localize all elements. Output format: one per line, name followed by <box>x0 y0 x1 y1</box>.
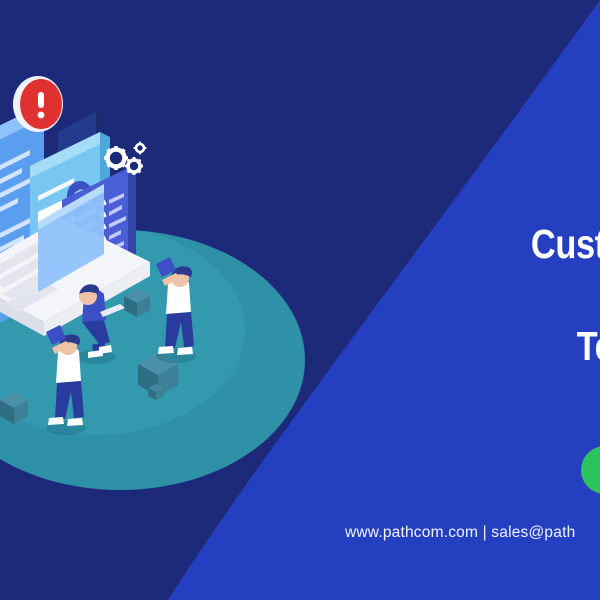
alert-badge <box>13 76 63 132</box>
exclamation-icon <box>38 92 44 108</box>
headline-line-2: Customer E <box>367 219 600 270</box>
footer-contact: www.pathcom.com | sales@path <box>345 524 575 542</box>
headline: Revol Customer E with Technica <box>367 168 600 372</box>
headline-line-3: with <box>367 270 600 321</box>
headline-line-1: Revol <box>367 168 600 219</box>
headline-line-4: Technica <box>367 321 600 372</box>
promotional-banner: Revol Customer E with Technica www.pathc… <box>0 0 600 600</box>
